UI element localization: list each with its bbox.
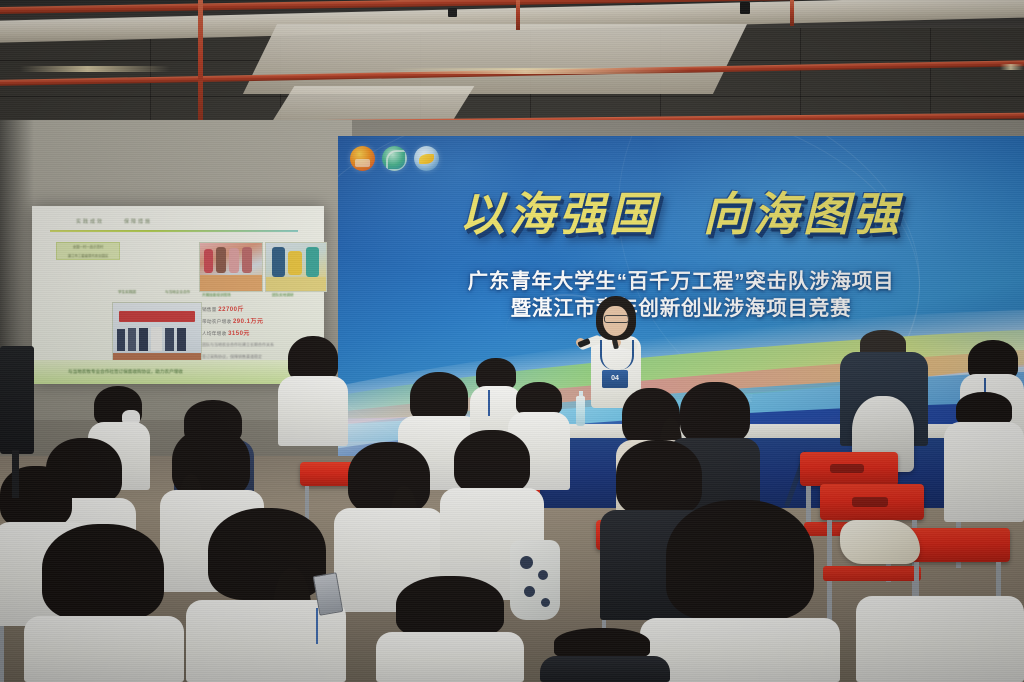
slide-tag-line1: 全国一村一品示范村 bbox=[57, 243, 119, 252]
communist-youth-league-emblem-icon bbox=[350, 146, 375, 171]
audience-member bbox=[278, 336, 348, 446]
slide-stat-2-value: 3150元 bbox=[228, 331, 250, 337]
slide-label-right: 与当地企业合作 bbox=[165, 290, 190, 295]
ceiling-sensor-right bbox=[740, 2, 750, 14]
slide-caption-photo-top-left: 开展技能培训现场 bbox=[202, 293, 231, 298]
slide-photo-top-left bbox=[199, 242, 263, 292]
photo-scene: 实践成效 保障措施 全国一村一品示范村 湛江市三星级现代农业园区 开展技能培训现… bbox=[0, 0, 1024, 682]
loudspeaker bbox=[0, 346, 34, 454]
ceiling-sensor bbox=[448, 8, 457, 17]
slide-label-left: 学生实践团 bbox=[118, 290, 136, 295]
slide-stat-1: 带动农户增收 290.1万元 bbox=[202, 316, 263, 325]
ceiling-pipe-vertical-b bbox=[516, 0, 520, 30]
slide-stat-0: 销售量 22700斤 bbox=[202, 304, 244, 313]
audience-member bbox=[944, 392, 1024, 522]
banner-subtitle-line1: 广东青年大学生“百千万工程”突击队涉海项目 bbox=[338, 264, 1024, 294]
presenter-lanyard bbox=[600, 340, 634, 370]
audience-member bbox=[640, 500, 840, 682]
slide-tag-line2: 湛江市三星级现代农业园区 bbox=[57, 252, 119, 261]
ceiling-pipe-vertical-c bbox=[790, 0, 794, 26]
slide-photo-top-right bbox=[265, 242, 327, 292]
slide-stat-1-label: 带动农户增收 bbox=[202, 319, 231, 324]
ceiling bbox=[0, 0, 1024, 128]
slide-photo-bottom bbox=[112, 302, 202, 366]
banner-logo-row bbox=[350, 146, 439, 171]
ceiling-pipe-vertical-a bbox=[198, 0, 203, 128]
speaker-stand bbox=[12, 450, 19, 498]
slide-header-right: 保障措施 bbox=[124, 218, 152, 225]
hvac-duct-secondary bbox=[243, 24, 747, 94]
slide-stat-0-value: 22700斤 bbox=[218, 307, 244, 313]
presenter-badge: 04 bbox=[602, 370, 628, 388]
folded-white-cloth bbox=[840, 520, 920, 564]
audience-member bbox=[24, 524, 184, 682]
banner-headline-left: 以海强国 bbox=[459, 187, 659, 241]
slide-stat-2: 人均年增收 3150元 bbox=[202, 328, 250, 337]
slide-accent-rule bbox=[50, 230, 298, 232]
slide-tag-box: 全国一村一品示范村 湛江市三星级现代农业园区 bbox=[56, 242, 120, 260]
slide-footer-text: 与当地农牧专业合作社签订保底收购协议，助力农户增收 bbox=[68, 369, 183, 375]
audience-member-with-phone bbox=[186, 508, 346, 682]
slide-header-left: 实践成效 bbox=[76, 218, 104, 225]
slide-stat-0-label: 销售量 bbox=[202, 307, 217, 312]
slide-caption-photo-top-right: 团队实地调研 bbox=[272, 293, 294, 298]
audience-member bbox=[376, 576, 524, 682]
blue-sail-emblem-icon bbox=[414, 146, 439, 171]
banner-headline: 以海强国向海图强 bbox=[338, 178, 1024, 244]
audience-member bbox=[856, 596, 1024, 682]
banner-headline-right: 向海图强 bbox=[703, 187, 903, 241]
presenter-glasses-icon bbox=[604, 315, 629, 323]
slide-body-0: 团队与当地农业合作社建立长期合作关系 bbox=[202, 342, 274, 348]
slide-stat-2-label: 人均年增收 bbox=[202, 331, 226, 336]
green-wave-emblem-icon bbox=[382, 146, 407, 171]
slide-stat-1-value: 290.1万元 bbox=[233, 319, 264, 325]
audience-member bbox=[540, 628, 670, 682]
